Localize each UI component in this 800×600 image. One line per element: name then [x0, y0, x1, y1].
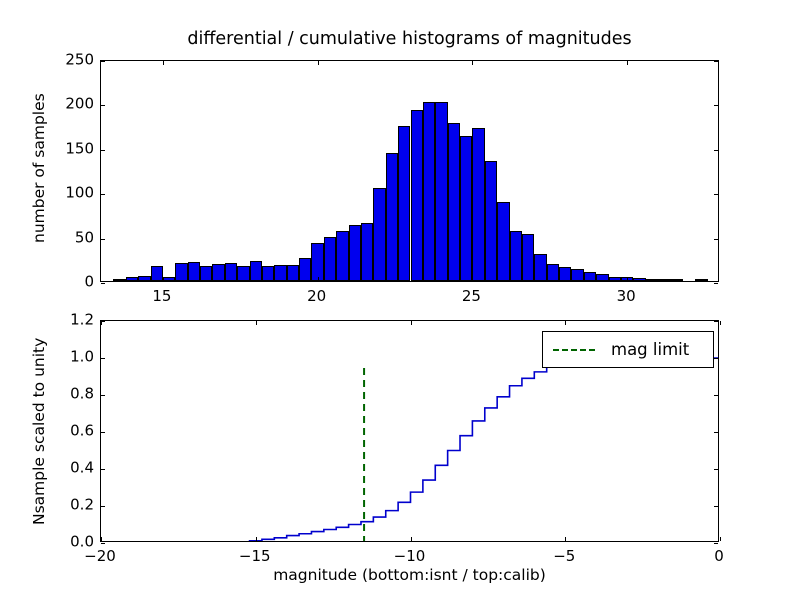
histogram-bar	[349, 225, 361, 281]
y-tick-mark	[714, 283, 718, 284]
x-tick-label: 15	[152, 288, 171, 305]
histogram-bar	[596, 274, 608, 281]
y-tick-label: 1.2	[54, 312, 94, 329]
x-tick-label: 25	[462, 288, 481, 305]
x-tick-label: −15	[239, 548, 271, 565]
y-tick-mark	[101, 194, 105, 195]
x-tick-mark	[101, 537, 102, 541]
x-tick-label: 20	[307, 288, 326, 305]
histogram-bar	[361, 223, 373, 281]
x-tick-mark	[472, 61, 473, 65]
x-tick-mark	[565, 537, 566, 541]
y-tick-mark	[714, 432, 718, 433]
histogram-bar	[534, 254, 546, 281]
figure-canvas: differential / cumulative histograms of …	[0, 0, 800, 600]
histogram-bar	[435, 102, 447, 281]
x-tick-mark	[472, 277, 473, 281]
histogram-bar	[113, 279, 125, 281]
histogram-bar	[250, 261, 262, 281]
top-panel-ylabel: number of samples	[30, 93, 48, 243]
y-tick-mark	[714, 469, 718, 470]
y-tick-label: 0	[54, 274, 94, 291]
histogram-bar	[658, 279, 670, 281]
x-tick-mark	[411, 321, 412, 325]
histogram-bar	[695, 279, 707, 281]
histogram-bar	[138, 276, 150, 281]
y-tick-label: 1.0	[54, 349, 94, 366]
x-tick-mark	[318, 277, 319, 281]
y-tick-mark	[101, 469, 105, 470]
x-tick-mark	[163, 61, 164, 65]
x-tick-label: −10	[394, 548, 426, 565]
y-tick-label: 150	[54, 140, 94, 157]
y-tick-mark	[101, 506, 105, 507]
y-tick-mark	[714, 358, 718, 359]
y-tick-label: 0.2	[54, 497, 94, 514]
y-tick-label: 0.4	[54, 460, 94, 477]
histogram-bar	[274, 265, 286, 281]
top-histogram-axes	[100, 60, 719, 282]
y-tick-mark	[714, 61, 718, 62]
histogram-bar	[559, 267, 571, 281]
histogram-bar	[287, 265, 299, 281]
y-tick-mark	[714, 150, 718, 151]
histogram-bar	[460, 136, 472, 281]
x-tick-mark	[163, 277, 164, 281]
top-plot-surface	[101, 61, 718, 281]
histogram-bar	[336, 231, 348, 281]
histogram-bar	[633, 278, 645, 281]
y-tick-label: 100	[54, 185, 94, 202]
histogram-bar	[299, 258, 311, 281]
histogram-bar	[237, 266, 249, 281]
x-tick-mark	[256, 321, 257, 325]
x-tick-mark	[720, 321, 721, 325]
y-tick-mark	[101, 239, 105, 240]
histogram-bar	[225, 263, 237, 281]
y-tick-mark	[101, 395, 105, 396]
histogram-bar	[411, 110, 423, 281]
histogram-bar	[151, 266, 163, 281]
histogram-bar	[188, 262, 200, 281]
mag-limit-line-swatch	[553, 349, 595, 351]
y-tick-label: 250	[54, 52, 94, 69]
histogram-bar	[448, 123, 460, 281]
y-tick-mark	[714, 194, 718, 195]
histogram-bar	[522, 234, 534, 281]
histogram-bar	[571, 269, 583, 281]
y-tick-mark	[714, 239, 718, 240]
y-tick-mark	[714, 321, 718, 322]
histogram-bar	[386, 153, 398, 281]
y-tick-mark	[101, 543, 105, 544]
histogram-bar	[324, 237, 336, 281]
histogram-bar	[485, 161, 497, 281]
x-tick-label: 30	[617, 288, 636, 305]
histogram-bar	[175, 263, 187, 281]
histogram-bar	[510, 231, 522, 281]
x-tick-mark	[720, 537, 721, 541]
histogram-bar	[646, 279, 658, 281]
histogram-bar	[609, 277, 621, 281]
y-tick-mark	[714, 506, 718, 507]
histogram-bar	[398, 126, 410, 281]
y-tick-mark	[101, 150, 105, 151]
y-tick-mark	[101, 432, 105, 433]
y-tick-label: 0.0	[54, 534, 94, 551]
x-tick-mark	[627, 277, 628, 281]
histogram-bar	[584, 272, 596, 281]
y-tick-label: 200	[54, 96, 94, 113]
x-tick-label: −20	[84, 548, 116, 565]
histogram-bar	[547, 264, 559, 281]
histogram-bar	[497, 202, 509, 281]
legend-label-mag-limit: mag limit	[611, 340, 689, 359]
y-tick-mark	[714, 395, 718, 396]
histogram-bar	[163, 277, 175, 281]
histogram-bar	[373, 188, 385, 281]
y-tick-mark	[714, 543, 718, 544]
x-tick-mark	[318, 61, 319, 65]
histogram-bar	[311, 243, 323, 281]
histogram-bar	[423, 102, 435, 281]
y-tick-mark	[101, 61, 105, 62]
legend[interactable]: mag limit	[542, 331, 714, 368]
histogram-bar	[212, 264, 224, 281]
histogram-bar	[670, 279, 682, 281]
x-tick-mark	[411, 537, 412, 541]
histogram-bar	[200, 266, 212, 281]
y-tick-mark	[101, 105, 105, 106]
y-tick-mark	[101, 283, 105, 284]
x-tick-label: 0	[714, 548, 724, 565]
x-tick-mark	[627, 61, 628, 65]
y-tick-label: 50	[54, 229, 94, 246]
x-axis-label: magnitude (bottom:isnt / top:calib)	[100, 566, 719, 584]
y-tick-label: 0.6	[54, 423, 94, 440]
cumulative-curve	[101, 358, 718, 541]
bottom-panel-ylabel: Nsample scaled to unity	[30, 338, 48, 525]
histogram-bar	[472, 128, 484, 281]
x-tick-label: −5	[553, 548, 575, 565]
histogram-bar	[262, 266, 274, 281]
chart-title: differential / cumulative histograms of …	[100, 29, 719, 49]
y-tick-mark	[714, 105, 718, 106]
x-tick-mark	[256, 537, 257, 541]
y-tick-label: 0.8	[54, 386, 94, 403]
y-tick-mark	[101, 358, 105, 359]
y-tick-mark	[101, 321, 105, 322]
histogram-bar	[126, 277, 138, 281]
x-tick-mark	[565, 321, 566, 325]
